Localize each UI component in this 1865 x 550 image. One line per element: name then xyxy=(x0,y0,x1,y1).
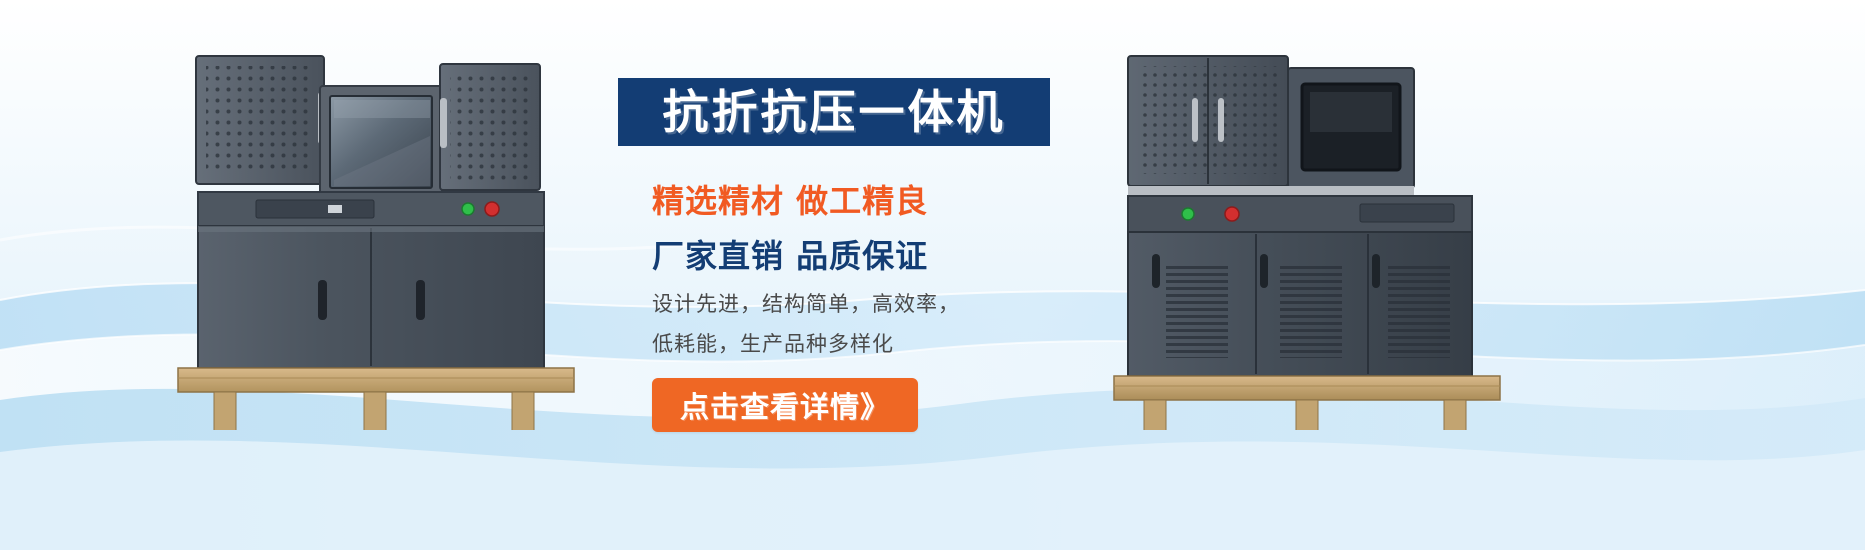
subhead-primary: 精选精材 做工精良 xyxy=(652,176,928,222)
left-main-body xyxy=(198,226,544,368)
copy-block: 抗折抗压一体机 精选精材 做工精良 厂家直销 品质保证 设计先进，结构简单，高效… xyxy=(618,66,1088,486)
right-indicator-green xyxy=(1182,208,1194,220)
left-indicator-red xyxy=(485,202,499,216)
left-upper-cabinet xyxy=(196,56,325,184)
left-center-chamber xyxy=(320,86,442,198)
right-wooden-pallet xyxy=(1114,376,1500,430)
cta-button[interactable]: 点击查看详情》 xyxy=(652,378,918,432)
cta-button-label: 点击查看详情》 xyxy=(680,384,890,426)
right-main-body xyxy=(1128,232,1472,376)
right-trim-strip xyxy=(1128,186,1414,196)
headline-bar: 抗折抗压一体机 xyxy=(618,78,1050,146)
description-line-1: 设计先进，结构简单，高效率， xyxy=(652,288,960,318)
left-indicator-green xyxy=(462,203,474,215)
product-image-left xyxy=(168,40,588,430)
left-control-shelf xyxy=(198,192,544,226)
right-screen-cabinet xyxy=(1288,68,1414,188)
promo-banner: 抗折抗压一体机 精选精材 做工精良 厂家直销 品质保证 设计先进，结构简单，高效… xyxy=(0,0,1865,550)
product-image-right xyxy=(1110,40,1510,430)
description-line-2: 低耗能，生产品种多样化 xyxy=(652,328,894,358)
left-wooden-pallet xyxy=(178,368,574,430)
headline-text: 抗折抗压一体机 xyxy=(663,89,1006,135)
left-upper-right-cabinet xyxy=(440,64,540,190)
subhead-secondary: 厂家直销 品质保证 xyxy=(652,231,928,277)
right-upper-cabinet xyxy=(1128,56,1288,186)
right-control-shelf xyxy=(1128,196,1472,232)
right-indicator-red xyxy=(1225,207,1239,221)
